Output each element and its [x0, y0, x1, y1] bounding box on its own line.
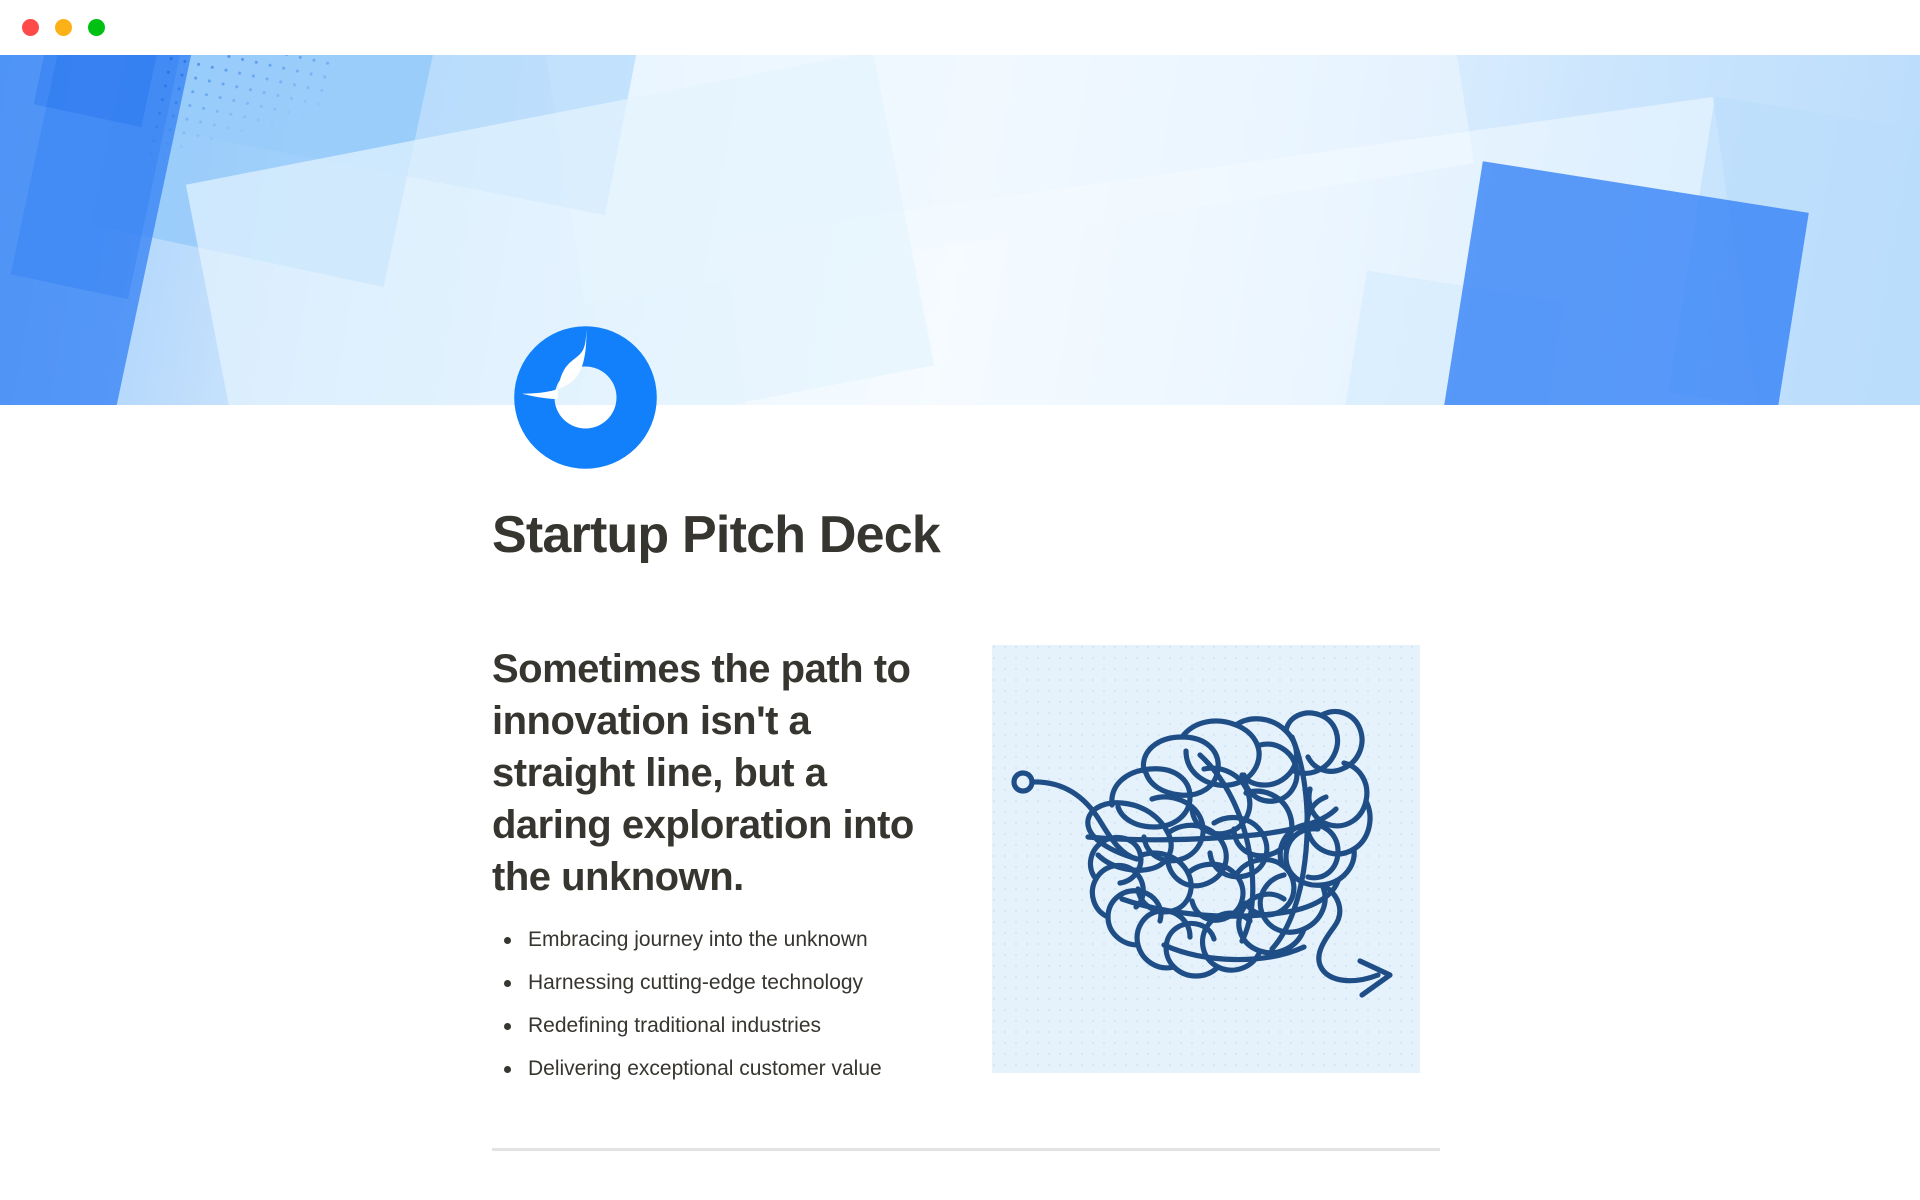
section-illustration[interactable]	[992, 645, 1420, 1073]
section-bullet-list: Embracing journey into the unknown Harne…	[492, 925, 922, 1084]
window-minimize-button[interactable]	[55, 19, 72, 36]
list-item: Redefining traditional industries	[492, 1011, 922, 1041]
page-title: Startup Pitch Deck	[492, 505, 940, 565]
list-item: Embracing journey into the unknown	[492, 925, 922, 955]
section-divider	[492, 1148, 1440, 1151]
window-titlebar	[0, 0, 1920, 55]
app-window: Startup Pitch Deck Sometimes the path to…	[0, 0, 1920, 1200]
circular-swoosh-icon	[508, 320, 663, 475]
window-close-button[interactable]	[22, 19, 39, 36]
section-headline: Sometimes the path to innovation isn't a…	[492, 643, 922, 903]
window-maximize-button[interactable]	[88, 19, 105, 36]
list-item: Harnessing cutting-edge technology	[492, 968, 922, 998]
list-item: Delivering exceptional customer value	[492, 1054, 922, 1084]
tangled-path-arrow-icon	[992, 645, 1420, 1073]
section-text-column: Sometimes the path to innovation isn't a…	[492, 643, 922, 1097]
page-cover-banner[interactable]	[0, 55, 1920, 405]
page-icon[interactable]	[508, 320, 663, 475]
